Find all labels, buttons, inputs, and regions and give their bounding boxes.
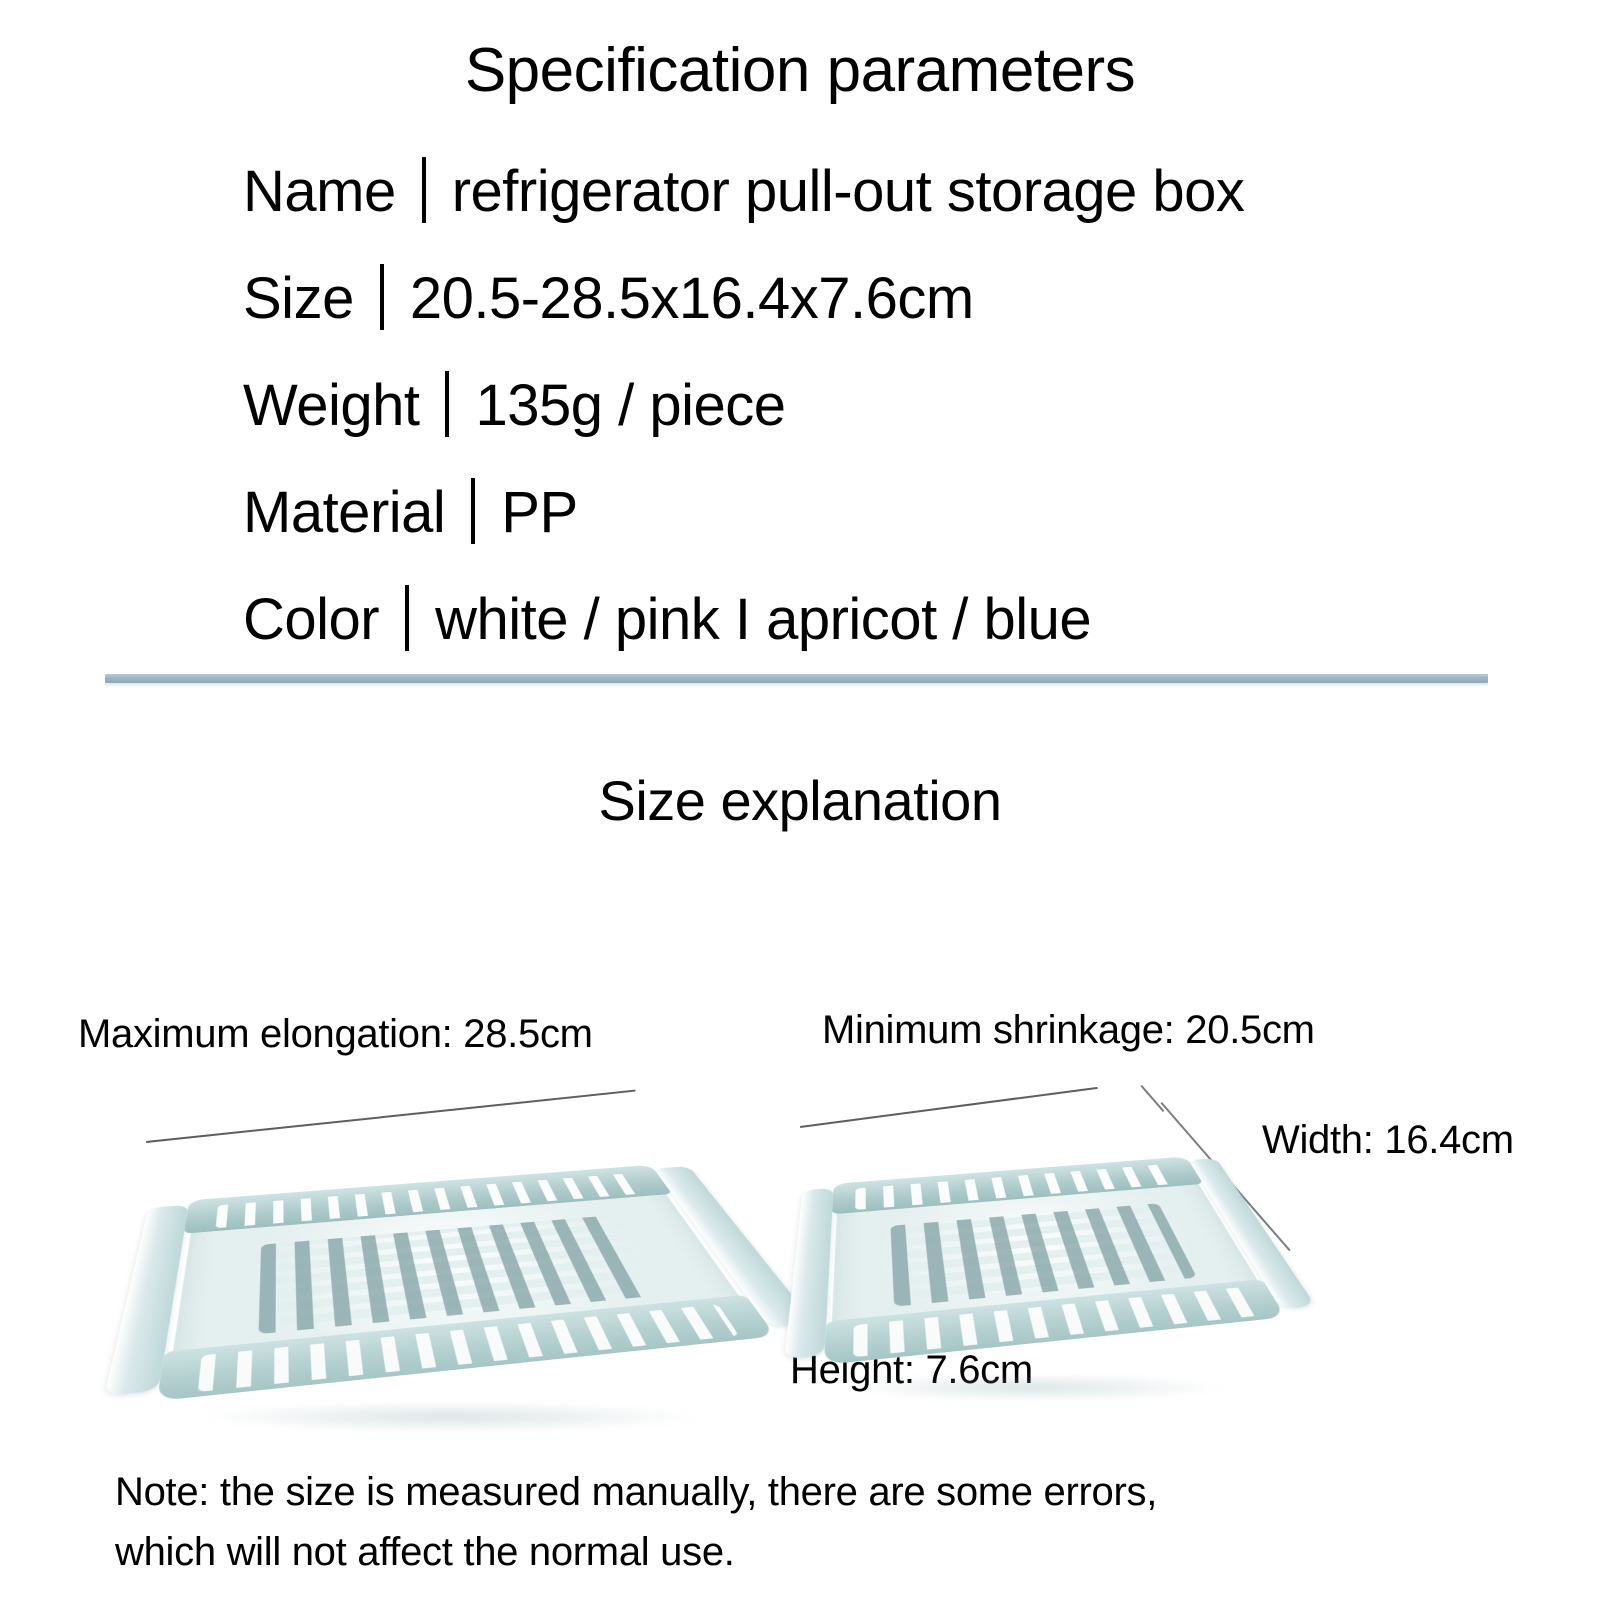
spec-key-weight: Weight bbox=[243, 352, 419, 459]
spec-row-size: Size 20.5-28.5x16.4x7.6cm bbox=[243, 245, 1543, 352]
spec-row-material: Material PP bbox=[243, 459, 1543, 566]
product-shadow bbox=[202, 1402, 698, 1432]
note-block: Note: the size is measured manually, the… bbox=[115, 1462, 1157, 1582]
note-line-2: which will not affect the normal use. bbox=[115, 1522, 1157, 1582]
spec-title: Specification parameters bbox=[0, 38, 1600, 103]
product-image-retracted bbox=[800, 1090, 1270, 1395]
spec-value-material: PP bbox=[501, 459, 577, 566]
caption-max-elongation: Maximum elongation: 28.5cm bbox=[78, 1012, 593, 1057]
spec-value-name: refrigerator pull-out storage box bbox=[452, 138, 1245, 245]
spec-table: Name refrigerator pull-out storage box S… bbox=[243, 138, 1543, 673]
spec-row-weight: Weight 135g / piece bbox=[243, 352, 1543, 459]
spec-separator-icon bbox=[380, 264, 384, 330]
product-extended-body bbox=[140, 1095, 760, 1425]
caption-width: Width: 16.4cm bbox=[1262, 1118, 1514, 1163]
spec-value-color: white / pink I apricot / blue bbox=[435, 566, 1091, 673]
spec-key-name: Name bbox=[243, 138, 396, 245]
spec-value-weight: 135g / piece bbox=[475, 352, 785, 459]
spec-key-material: Material bbox=[243, 459, 445, 566]
product-shadow bbox=[847, 1374, 1223, 1401]
spec-row-color: Color white / pink I apricot / blue bbox=[243, 566, 1543, 673]
section-divider-shadow bbox=[105, 683, 1488, 687]
product-spec-page: Specification parameters Name refrigerat… bbox=[0, 0, 1600, 1600]
size-explanation-title: Size explanation bbox=[0, 768, 1600, 833]
section-divider bbox=[105, 674, 1488, 683]
side-rail-left-icon bbox=[784, 1188, 833, 1359]
spec-separator-icon bbox=[445, 371, 449, 437]
spec-value-size: 20.5-28.5x16.4x7.6cm bbox=[410, 245, 974, 352]
tray-retracted bbox=[783, 1153, 1321, 1369]
product-retracted-body bbox=[800, 1090, 1270, 1395]
spec-separator-icon bbox=[471, 478, 475, 544]
tray-extended bbox=[102, 1161, 821, 1407]
spec-key-color: Color bbox=[243, 566, 379, 673]
spec-separator-icon bbox=[422, 157, 426, 223]
spec-separator-icon bbox=[405, 585, 409, 651]
spec-row-name: Name refrigerator pull-out storage box bbox=[243, 138, 1543, 245]
note-line-1: Note: the size is measured manually, the… bbox=[115, 1462, 1157, 1522]
spec-key-size: Size bbox=[243, 245, 354, 352]
caption-min-shrinkage: Minimum shrinkage: 20.5cm bbox=[822, 1008, 1315, 1053]
product-image-extended bbox=[140, 1095, 760, 1425]
